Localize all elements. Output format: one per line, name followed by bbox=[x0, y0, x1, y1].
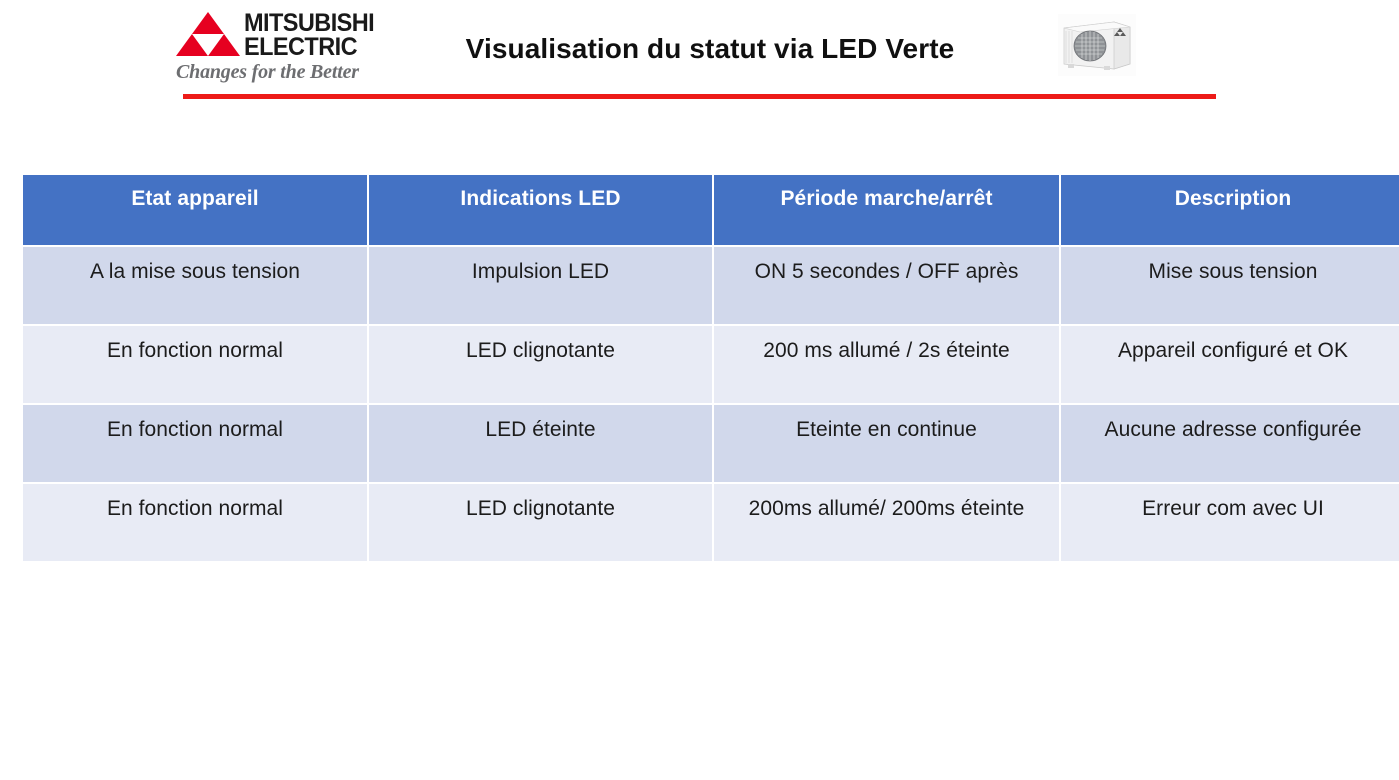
cell-period: 200 ms allumé / 2s éteinte bbox=[714, 326, 1059, 403]
table-row: En fonction normal LED clignotante 200ms… bbox=[23, 484, 1399, 561]
page-title: Visualisation du statut via LED Verte bbox=[400, 33, 1020, 65]
cell-state: En fonction normal bbox=[23, 484, 367, 561]
three-diamonds-logo-icon bbox=[176, 12, 240, 56]
header-red-rule bbox=[183, 94, 1216, 99]
cell-description: Aucune adresse configurée bbox=[1061, 405, 1399, 482]
outdoor-unit-photo bbox=[1058, 14, 1136, 76]
brand-tagline: Changes for the Better bbox=[176, 61, 359, 84]
table-header-row: Etat appareil Indications LED Période ma… bbox=[23, 175, 1399, 245]
cell-state: En fonction normal bbox=[23, 326, 367, 403]
brand-wordmark-line-1: MITSUBISHI bbox=[244, 11, 366, 35]
cell-state: A la mise sous tension bbox=[23, 247, 367, 324]
table-row: En fonction normal LED clignotante 200 m… bbox=[23, 326, 1399, 403]
led-status-table: Etat appareil Indications LED Période ma… bbox=[21, 173, 1399, 563]
table-row: A la mise sous tension Impulsion LED ON … bbox=[23, 247, 1399, 324]
cell-led: LED clignotante bbox=[369, 326, 712, 403]
cell-state: En fonction normal bbox=[23, 405, 367, 482]
column-header-periode-marche-arret: Période marche/arrêt bbox=[714, 175, 1059, 245]
cell-description: Mise sous tension bbox=[1061, 247, 1399, 324]
table-row: En fonction normal LED éteinte Eteinte e… bbox=[23, 405, 1399, 482]
column-header-description: Description bbox=[1061, 175, 1399, 245]
column-header-indications-led: Indications LED bbox=[369, 175, 712, 245]
cell-led: LED éteinte bbox=[369, 405, 712, 482]
cell-led: Impulsion LED bbox=[369, 247, 712, 324]
cell-description: Erreur com avec UI bbox=[1061, 484, 1399, 561]
cell-period: ON 5 secondes / OFF après bbox=[714, 247, 1059, 324]
slide-header: MITSUBISHI ELECTRIC Changes for the Bett… bbox=[0, 0, 1399, 100]
brand-wordmark-line-2: ELECTRIC bbox=[244, 35, 366, 59]
cell-period: 200ms allumé/ 200ms éteinte bbox=[714, 484, 1059, 561]
cell-led: LED clignotante bbox=[369, 484, 712, 561]
brand-wordmark: MITSUBISHI ELECTRIC bbox=[244, 11, 374, 60]
mitsubishi-electric-logo: MITSUBISHI ELECTRIC Changes for the Bett… bbox=[176, 8, 372, 86]
column-header-etat-appareil: Etat appareil bbox=[23, 175, 367, 245]
cell-description: Appareil configuré et OK bbox=[1061, 326, 1399, 403]
cell-period: Eteinte en continue bbox=[714, 405, 1059, 482]
